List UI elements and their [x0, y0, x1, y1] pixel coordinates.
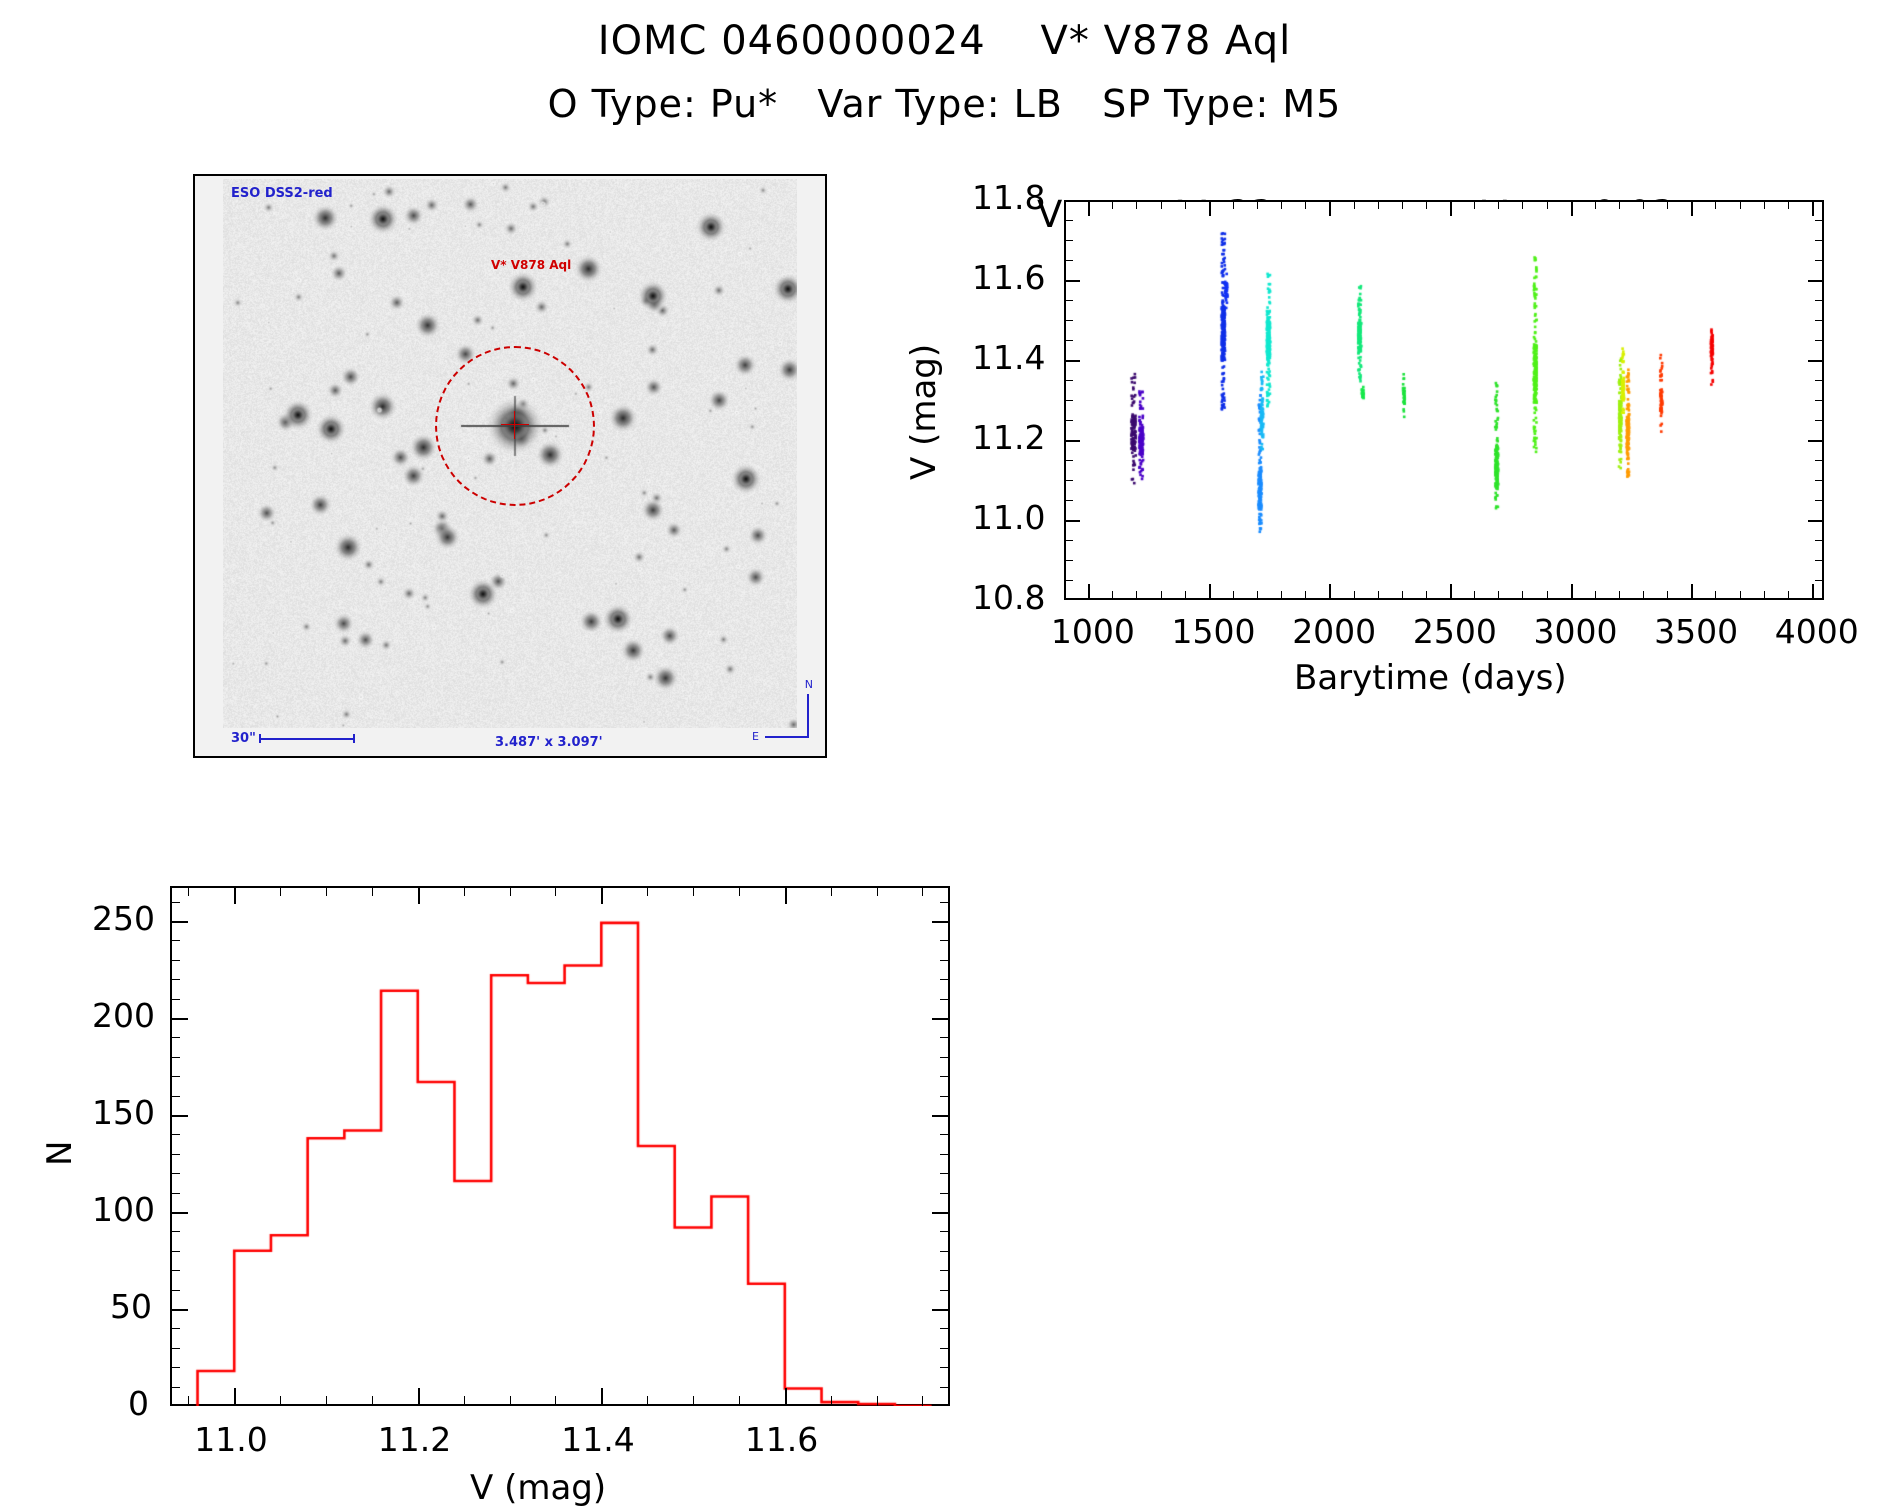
axis-tick [464, 886, 465, 896]
axis-tick [1161, 200, 1162, 209]
scale-label: 30" [231, 731, 256, 746]
axis-tick [418, 886, 419, 896]
axis-tick [1064, 240, 1073, 241]
axis-tick [170, 1251, 180, 1252]
axis-tick [1522, 591, 1523, 600]
axis-tick [693, 1396, 694, 1406]
axis-tick [1815, 360, 1824, 361]
axis-tick [1426, 200, 1427, 209]
hist-y-tick-label: 50 [110, 1287, 152, 1326]
axis-tick [940, 1290, 950, 1291]
axis-tick [877, 886, 878, 896]
axis-tick [1064, 260, 1073, 261]
axis-tick [940, 1270, 950, 1271]
axis-tick [1667, 200, 1668, 209]
axis-tick [1571, 591, 1572, 600]
axis-tick [940, 1367, 950, 1368]
page-title: IOMC 0460000024 V* V878 Aql [0, 18, 1889, 64]
axis-tick [1815, 520, 1824, 521]
axis-tick [1354, 591, 1355, 600]
axis-tick [940, 1251, 950, 1252]
axis-tick [1619, 200, 1620, 209]
axis-tick [1715, 200, 1716, 209]
axis-tick [170, 1193, 180, 1194]
axis-tick [1064, 380, 1073, 381]
axis-tick [1257, 591, 1258, 600]
survey-label: ESO DSS2-red [231, 186, 333, 201]
axis-tick [170, 1173, 180, 1174]
x-tick-label: 2500 [1413, 612, 1497, 651]
axis-tick [170, 921, 180, 922]
axis-tick [1064, 420, 1073, 421]
y-tick-label: 10.8 [972, 578, 1045, 617]
axis-tick [510, 886, 511, 896]
axis-tick [170, 1270, 180, 1271]
axis-tick [170, 1018, 180, 1019]
hist-y-tick-label: 150 [92, 1093, 155, 1132]
axis-tick [1691, 591, 1692, 600]
axis-tick [1595, 591, 1596, 600]
axis-tick [940, 1057, 950, 1058]
axis-tick [464, 1396, 465, 1406]
light-curve-ylabel: V (mag) [904, 344, 944, 480]
compass-north-label: N [805, 678, 813, 691]
axis-tick [693, 886, 694, 896]
target-crosshair-vertical [514, 411, 515, 439]
axis-tick [170, 1134, 180, 1135]
x-tick-label: 3000 [1533, 612, 1617, 651]
light-curve-canvas [1064, 200, 1824, 600]
axis-tick [1788, 591, 1789, 600]
axis-tick [601, 1396, 602, 1406]
axis-tick [940, 940, 950, 941]
hist-x-tick-label: 11.6 [745, 1420, 818, 1459]
axis-tick [1136, 591, 1137, 600]
axis-tick [1064, 540, 1073, 541]
axis-tick [1064, 200, 1080, 202]
hist-y-tick-label: 200 [92, 996, 155, 1035]
axis-tick [1378, 200, 1379, 209]
axis-tick [1064, 340, 1073, 341]
y-tick-label: 11.0 [972, 498, 1045, 537]
axis-tick [1808, 200, 1824, 202]
axis-tick [1815, 540, 1824, 541]
axis-tick [932, 1404, 950, 1406]
axis-tick [1815, 460, 1824, 461]
object-types-line: O Type: Pu* Var Type: LB SP Type: M5 [0, 82, 1889, 126]
axis-tick [940, 1387, 950, 1388]
axis-tick [1764, 200, 1765, 209]
axis-tick [170, 1231, 180, 1232]
axis-tick [234, 1396, 235, 1406]
hist-y-tick-label: 100 [92, 1190, 155, 1229]
axis-tick [1498, 200, 1499, 209]
light-curve-xlabel: Barytime (days) [1294, 658, 1567, 698]
axis-tick [234, 886, 235, 896]
histogram-canvas [170, 886, 950, 1406]
axis-tick [170, 1212, 180, 1213]
x-tick-label: 1000 [1051, 612, 1135, 651]
axis-tick [1815, 580, 1824, 581]
axis-tick [1064, 598, 1080, 600]
axis-tick [1450, 591, 1451, 600]
axis-tick [940, 1212, 950, 1213]
axis-tick [170, 999, 180, 1000]
axis-tick [1815, 220, 1824, 221]
axis-tick [922, 1396, 923, 1406]
target-circle-marker [435, 346, 595, 506]
axis-tick [1474, 591, 1475, 600]
axis-tick [1064, 440, 1073, 441]
axis-tick [1595, 200, 1596, 209]
axis-tick [1547, 591, 1548, 600]
axis-tick [1233, 200, 1234, 209]
axis-tick [1643, 591, 1644, 600]
axis-tick [940, 979, 950, 980]
hist-y-tick-label: 0 [128, 1384, 149, 1423]
x-tick-label: 4000 [1775, 612, 1859, 651]
axis-tick [940, 902, 950, 903]
y-tick-label: 11.4 [972, 338, 1045, 377]
x-tick-label: 3500 [1654, 612, 1738, 651]
axis-tick [647, 1396, 648, 1406]
axis-tick [601, 886, 602, 896]
axis-tick [1815, 400, 1824, 401]
axis-tick [1788, 200, 1789, 209]
axis-tick [940, 960, 950, 961]
axis-tick [940, 1037, 950, 1038]
axis-tick [1281, 591, 1282, 600]
axis-tick [1402, 591, 1403, 600]
axis-tick [1064, 300, 1073, 301]
axis-tick [1378, 591, 1379, 600]
x-tick-label: 2000 [1292, 612, 1376, 651]
axis-tick [831, 1396, 832, 1406]
axis-tick [1815, 480, 1824, 481]
axis-tick [1064, 500, 1073, 501]
axis-tick [170, 1290, 180, 1291]
y-tick-label: 11.6 [972, 258, 1045, 297]
axis-tick [510, 1396, 511, 1406]
star-name-label: V* V878 Aql [491, 258, 571, 272]
axis-tick [188, 886, 189, 896]
axis-tick [940, 1193, 950, 1194]
axis-tick [170, 1037, 180, 1038]
axis-tick [1815, 560, 1824, 561]
axis-tick [170, 979, 180, 980]
axis-tick [785, 1396, 786, 1406]
axis-tick [1185, 200, 1186, 209]
axis-tick [1088, 200, 1089, 209]
axis-tick [1161, 591, 1162, 600]
y-tick-label: 11.8 [972, 178, 1045, 217]
axis-tick [1064, 460, 1073, 461]
axis-tick [1426, 591, 1427, 600]
axis-tick [1619, 591, 1620, 600]
histogram-xlabel: V (mag) [470, 1468, 606, 1508]
axis-tick [372, 1396, 373, 1406]
axis-tick [1691, 200, 1692, 209]
compass-rose: N E [765, 694, 809, 738]
axis-tick [1064, 400, 1073, 401]
axis-tick [1064, 360, 1073, 361]
axis-tick [739, 1396, 740, 1406]
axis-tick [1112, 200, 1113, 209]
axis-tick [170, 940, 180, 941]
hist-x-tick-label: 11.2 [378, 1420, 451, 1459]
axis-tick [170, 1367, 180, 1368]
axis-tick [1815, 240, 1824, 241]
axis-tick [1233, 591, 1234, 600]
axis-tick [1064, 580, 1073, 581]
axis-tick [785, 886, 786, 896]
axis-tick [1305, 200, 1306, 209]
axis-tick [940, 1154, 950, 1155]
axis-tick [1522, 200, 1523, 209]
axis-tick [940, 1231, 950, 1232]
axis-tick [1474, 200, 1475, 209]
figure-root: IOMC 0460000024 V* V878 Aql O Type: Pu* … [0, 0, 1889, 1494]
axis-tick [940, 1173, 950, 1174]
field-size-label: 3.487' x 3.097' [495, 735, 603, 750]
axis-tick [1064, 560, 1073, 561]
axis-tick [418, 1396, 419, 1406]
axis-tick [170, 1154, 180, 1155]
axis-tick [1815, 420, 1824, 421]
axis-tick [1815, 500, 1824, 501]
axis-tick [1815, 380, 1824, 381]
axis-tick [555, 1396, 556, 1406]
axis-tick [170, 902, 180, 903]
axis-tick [1185, 591, 1186, 600]
axis-tick [170, 1348, 180, 1349]
axis-tick [1064, 520, 1073, 521]
axis-tick [1329, 200, 1330, 209]
axis-tick [1667, 591, 1668, 600]
axis-tick [739, 886, 740, 896]
title-block: IOMC 0460000024 V* V878 Aql O Type: Pu* … [0, 18, 1889, 126]
finding-chart[interactable]: ESO DSS2-red V* V878 Aql 30" 3.487' x 3.… [193, 174, 827, 758]
axis-tick [940, 1309, 950, 1310]
axis-tick [831, 886, 832, 896]
axis-tick [1764, 591, 1765, 600]
x-tick-label: 1500 [1172, 612, 1256, 651]
axis-tick [1209, 591, 1210, 600]
axis-tick [1064, 320, 1073, 321]
axis-tick [1450, 200, 1451, 209]
axis-tick [1815, 300, 1824, 301]
axis-tick [1064, 220, 1073, 221]
axis-tick [877, 1396, 878, 1406]
axis-tick [1643, 200, 1644, 209]
hist-x-tick-label: 11.4 [561, 1420, 634, 1459]
axis-tick [940, 1348, 950, 1349]
axis-tick [372, 886, 373, 896]
axis-tick [1136, 200, 1137, 209]
axis-tick [1281, 200, 1282, 209]
axis-tick [1209, 200, 1210, 209]
axis-tick [1088, 591, 1089, 600]
axis-tick [1740, 200, 1741, 209]
axis-tick [1064, 280, 1073, 281]
axis-tick [922, 886, 923, 896]
axis-tick [1815, 440, 1824, 441]
axis-tick [555, 886, 556, 896]
hist-y-tick-label: 250 [92, 899, 155, 938]
axis-tick [326, 886, 327, 896]
axis-tick [1808, 598, 1824, 600]
axis-tick [280, 1396, 281, 1406]
histogram-ylabel: N [40, 1141, 80, 1166]
axis-tick [940, 999, 950, 1000]
axis-tick [940, 1115, 950, 1116]
axis-tick [1402, 200, 1403, 209]
axis-tick [1815, 340, 1824, 341]
axis-tick [170, 1328, 180, 1329]
axis-tick [170, 1387, 180, 1388]
hist-x-tick-label: 11.0 [194, 1420, 267, 1459]
axis-tick [940, 921, 950, 922]
axis-tick [940, 1076, 950, 1077]
axis-tick [1815, 280, 1824, 281]
axis-tick [170, 1096, 180, 1097]
axis-tick [940, 1134, 950, 1135]
compass-north-arm [807, 694, 809, 738]
axis-tick [1305, 591, 1306, 600]
scale-bar [259, 738, 355, 740]
axis-tick [170, 1309, 180, 1310]
compass-east-arm [765, 736, 809, 738]
axis-tick [1354, 200, 1355, 209]
axis-tick [170, 1076, 180, 1077]
axis-tick [170, 960, 180, 961]
axis-tick [188, 1396, 189, 1406]
axis-tick [1064, 480, 1073, 481]
axis-tick [940, 1096, 950, 1097]
axis-tick [280, 886, 281, 896]
target-crosshair-horizontal [501, 424, 529, 425]
axis-tick [170, 1057, 180, 1058]
axis-tick [1547, 200, 1548, 209]
axis-tick [940, 1328, 950, 1329]
axis-tick [1740, 591, 1741, 600]
axis-tick [940, 1018, 950, 1019]
axis-tick [170, 1404, 188, 1406]
axis-tick [1571, 200, 1572, 209]
axis-tick [1815, 260, 1824, 261]
axis-tick [1715, 591, 1716, 600]
axis-tick [1498, 591, 1499, 600]
magnitude-histogram-plot [170, 886, 950, 1406]
axis-tick [170, 1115, 180, 1116]
light-curve-plot [1064, 200, 1824, 600]
axis-tick [326, 1396, 327, 1406]
axis-tick [1329, 591, 1330, 600]
axis-tick [1815, 320, 1824, 321]
axis-tick [647, 886, 648, 896]
compass-east-label: E [752, 730, 759, 743]
axis-tick [1112, 591, 1113, 600]
axis-tick [1257, 200, 1258, 209]
y-tick-label: 11.2 [972, 418, 1045, 457]
